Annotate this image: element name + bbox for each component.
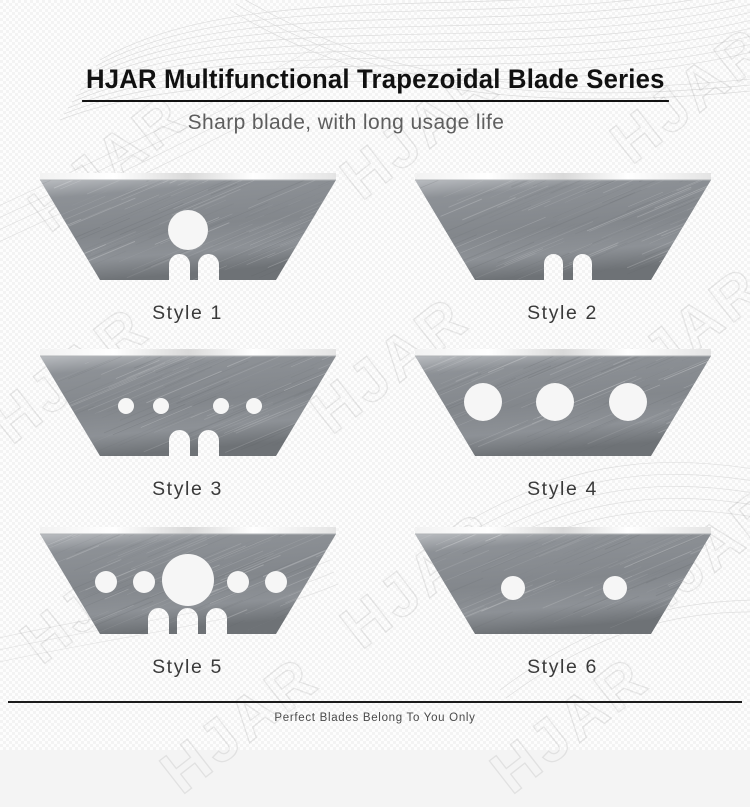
- blade-hole: [227, 571, 249, 593]
- product-cell: Style 6: [375, 522, 750, 698]
- blade-hole: [501, 576, 525, 600]
- blade-image: [413, 344, 713, 474]
- blade-hole: [464, 383, 502, 421]
- page-title: HJAR Multifunctional Trapezoidal Blade S…: [82, 64, 668, 102]
- product-style-label: Style 4: [527, 478, 598, 501]
- blade-cutting-edge: [415, 527, 711, 535]
- blade-hole: [536, 383, 574, 421]
- footer-tagline: Perfect Blades Belong To You Only: [0, 712, 750, 724]
- footer-divider: [8, 701, 742, 703]
- blade-cutting-edge: [415, 173, 711, 181]
- product-cell: Style 5: [0, 522, 375, 698]
- blade-image: [38, 168, 338, 298]
- blade-image: [413, 168, 713, 298]
- product-style-label: Style 1: [152, 302, 223, 325]
- blade-image: [38, 344, 338, 474]
- page-subtitle: Sharp blade, with long usage life: [0, 111, 750, 135]
- product-style-label: Style 2: [527, 302, 598, 325]
- blade-cutting-edge: [415, 349, 711, 357]
- blade-hole: [603, 576, 627, 600]
- blade-image: [413, 522, 713, 652]
- poster-header: HJAR Multifunctional Trapezoidal Blade S…: [0, 64, 750, 135]
- product-cell: Style 3: [0, 344, 375, 522]
- blade-hole: [95, 571, 117, 593]
- blade-cutting-edge: [40, 349, 336, 357]
- product-style-label: Style 5: [152, 656, 223, 679]
- blade-image: [38, 522, 338, 652]
- blade-hole: [609, 383, 647, 421]
- blade-hole: [265, 571, 287, 593]
- blade-hole: [162, 554, 214, 606]
- blade-hole: [133, 571, 155, 593]
- product-cell: Style 4: [375, 344, 750, 522]
- blade-hole: [118, 398, 134, 414]
- product-grid: Style 1Style 2Style 3Style 4Style 5Style…: [0, 168, 750, 698]
- blade-hole: [246, 398, 262, 414]
- product-cell: Style 1: [0, 168, 375, 344]
- blade-hole: [153, 398, 169, 414]
- blade-hole: [168, 210, 208, 250]
- blade-cutting-edge: [40, 173, 336, 181]
- product-cell: Style 2: [375, 168, 750, 344]
- product-poster: HJAR HJAR HJAR HJAR HJAR HJAR HJAR HJAR …: [0, 0, 750, 750]
- blade-hole: [213, 398, 229, 414]
- product-style-label: Style 6: [527, 656, 598, 679]
- blade-cutting-edge: [40, 527, 336, 535]
